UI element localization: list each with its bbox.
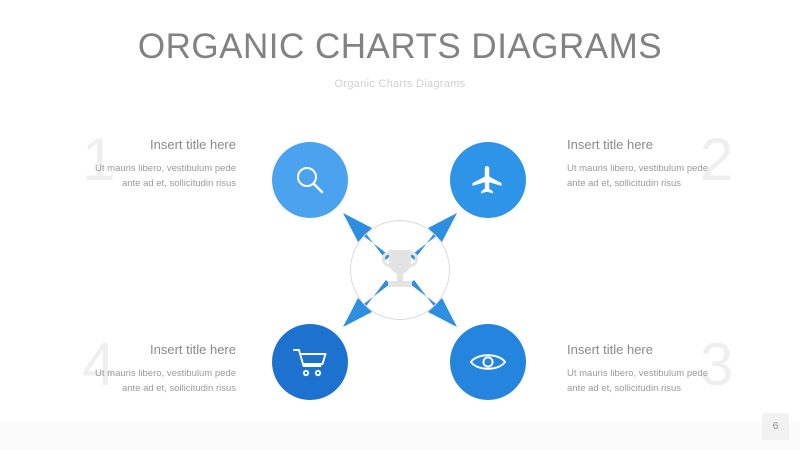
node-eye[interactable] xyxy=(450,324,526,400)
text-block-3-body: Ut mauris libero, vestibulum pede ante a… xyxy=(567,366,712,396)
airplane-icon xyxy=(471,163,505,197)
slide-canvas: ORGANIC CHARTS DIAGRAMS Organic Charts D… xyxy=(0,0,800,450)
center-ring xyxy=(350,220,450,320)
text-block-2-body: Ut mauris libero, vestibulum pede ante a… xyxy=(567,161,712,191)
text-block-2-title: Insert title here xyxy=(567,137,712,152)
text-block-4-body: Ut mauris libero, vestibulum pede ante a… xyxy=(91,366,236,396)
node-shopping-cart[interactable] xyxy=(272,324,348,400)
page-number: 6 xyxy=(762,413,789,440)
trophy-icon xyxy=(379,247,421,293)
text-block-2: Insert title here Ut mauris libero, vest… xyxy=(567,137,712,191)
text-block-3: Insert title here Ut mauris libero, vest… xyxy=(567,342,712,396)
page-subtitle: Organic Charts Diagrams xyxy=(0,78,800,90)
search-icon xyxy=(293,163,327,197)
page-title: ORGANIC CHARTS DIAGRAMS xyxy=(0,27,800,67)
eye-icon xyxy=(469,349,507,375)
text-block-3-title: Insert title here xyxy=(567,342,712,357)
shopping-cart-icon xyxy=(292,346,328,378)
text-block-4: Insert title here Ut mauris libero, vest… xyxy=(91,342,236,396)
node-search[interactable] xyxy=(272,142,348,218)
node-airplane[interactable] xyxy=(450,142,526,218)
organic-chart-diagram xyxy=(260,130,540,410)
text-block-1-title: Insert title here xyxy=(91,137,236,152)
text-block-1-body: Ut mauris libero, vestibulum pede ante a… xyxy=(91,161,236,191)
text-block-1: Insert title here Ut mauris libero, vest… xyxy=(91,137,236,191)
text-block-4-title: Insert title here xyxy=(91,342,236,357)
bottom-band xyxy=(0,422,800,450)
